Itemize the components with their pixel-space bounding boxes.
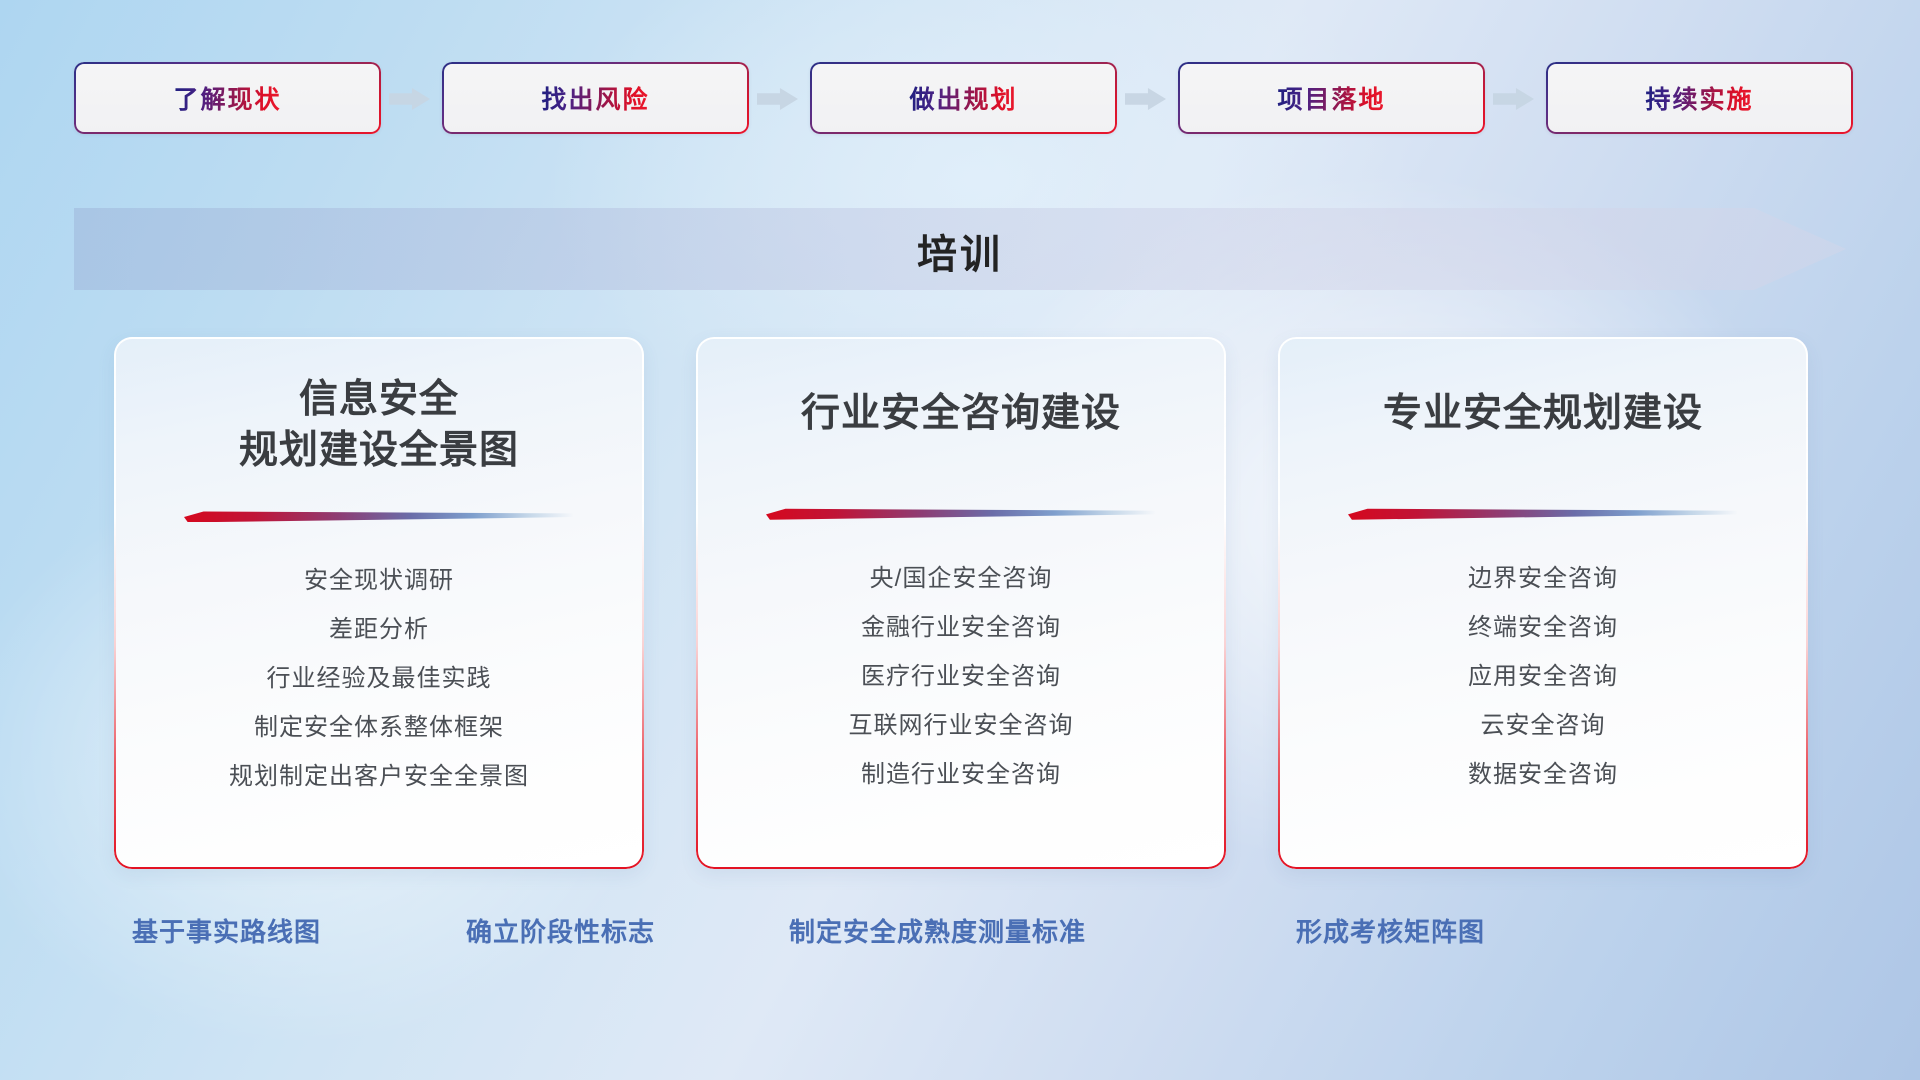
list-item: 安全现状调研 <box>114 556 644 605</box>
card-divider-wrap-2 <box>766 506 1156 520</box>
step-box-2[interactable]: 找出风险 <box>442 62 749 134</box>
card-list-3: 边界安全咨询 终端安全咨询 应用安全咨询 云安全咨询 数据安全咨询 <box>1278 554 1808 799</box>
footer-label-2: 确立阶段性标志 <box>466 912 655 949</box>
card-industry-security-consulting[interactable]: 行业安全咨询建设 央/国企安全咨询 金融行业安全咨询 医疗行业安全咨询 互联网行… <box>696 337 1226 869</box>
list-item: 医疗行业安全咨询 <box>696 652 1226 701</box>
gradient-divider-icon-1 <box>184 508 574 522</box>
list-item: 规划制定出客户安全全景图 <box>114 752 644 801</box>
step-label-3: 做出规划 <box>909 80 1017 116</box>
list-item: 制定安全体系整体框架 <box>114 703 644 752</box>
step-label-4: 项目落地 <box>1277 80 1385 116</box>
step-arrow-icon-1 <box>389 88 430 110</box>
footer-label-4: 形成考核矩阵图 <box>1296 912 1485 949</box>
list-item: 云安全咨询 <box>1278 701 1808 750</box>
card-title-3-line1: 专业安全规划建设 <box>1304 389 1782 440</box>
step-arrow-icon-2 <box>757 88 798 110</box>
card-row: 信息安全 规划建设全景图 安全现状调研 差距分析 行业经验及最佳实践 制定安全体… <box>0 337 1920 869</box>
card-title-1-line2: 规划建设全景图 <box>140 426 618 477</box>
list-item: 互联网行业安全咨询 <box>696 701 1226 750</box>
card-title-2: 行业安全咨询建设 <box>696 389 1226 440</box>
step-arrow-icon-3 <box>1125 88 1166 110</box>
card-divider-wrap-3 <box>1348 506 1738 520</box>
list-item: 边界安全咨询 <box>1278 554 1808 603</box>
list-item: 制造行业安全咨询 <box>696 750 1226 799</box>
card-divider-wrap-1 <box>184 508 574 522</box>
step-box-5[interactable]: 持续实施 <box>1546 62 1853 134</box>
card-list-1: 安全现状调研 差距分析 行业经验及最佳实践 制定安全体系整体框架 规划制定出客户… <box>114 556 644 801</box>
process-step-row: 了解现状 找出风险 做出规划 项目落地 持续实施 <box>0 62 1920 134</box>
card-professional-security-planning[interactable]: 专业安全规划建设 边界安全咨询 终端安全咨询 应用安全咨询 云安全咨询 数据安全… <box>1278 337 1808 869</box>
card-title-1-line1: 信息安全 <box>140 375 618 426</box>
card-title-1: 信息安全 规划建设全景图 <box>114 375 644 476</box>
slide-canvas: 了解现状 找出风险 做出规划 项目落地 持续实施 培训 信息安全 规划建设全景图 <box>0 0 1920 1080</box>
gradient-divider-icon-3 <box>1348 506 1738 520</box>
list-item: 差距分析 <box>114 605 644 654</box>
list-item: 行业经验及最佳实践 <box>114 654 644 703</box>
list-item: 应用安全咨询 <box>1278 652 1808 701</box>
footer-label-3: 制定安全成熟度测量标准 <box>789 912 1086 949</box>
footer-label-1: 基于事实路线图 <box>132 912 321 949</box>
card-title-3: 专业安全规划建设 <box>1278 389 1808 440</box>
list-item: 终端安全咨询 <box>1278 603 1808 652</box>
card-information-security-blueprint[interactable]: 信息安全 规划建设全景图 安全现状调研 差距分析 行业经验及最佳实践 制定安全体… <box>114 337 644 869</box>
step-label-5: 持续实施 <box>1645 80 1753 116</box>
step-box-3[interactable]: 做出规划 <box>810 62 1117 134</box>
gradient-divider-icon-2 <box>766 506 1156 520</box>
card-list-2: 央/国企安全咨询 金融行业安全咨询 医疗行业安全咨询 互联网行业安全咨询 制造行… <box>696 554 1226 799</box>
card-title-2-line1: 行业安全咨询建设 <box>722 389 1200 440</box>
step-box-1[interactable]: 了解现状 <box>74 62 381 134</box>
list-item: 金融行业安全咨询 <box>696 603 1226 652</box>
footer-label-row: 基于事实路线图 确立阶段性标志 制定安全成熟度测量标准 形成考核矩阵图 <box>0 912 1920 962</box>
training-banner-title: 培训 <box>0 216 1920 286</box>
list-item: 央/国企安全咨询 <box>696 554 1226 603</box>
step-arrow-icon-4 <box>1493 88 1534 110</box>
step-label-2: 找出风险 <box>541 80 649 116</box>
step-label-1: 了解现状 <box>173 80 281 116</box>
step-box-4[interactable]: 项目落地 <box>1178 62 1485 134</box>
list-item: 数据安全咨询 <box>1278 750 1808 799</box>
